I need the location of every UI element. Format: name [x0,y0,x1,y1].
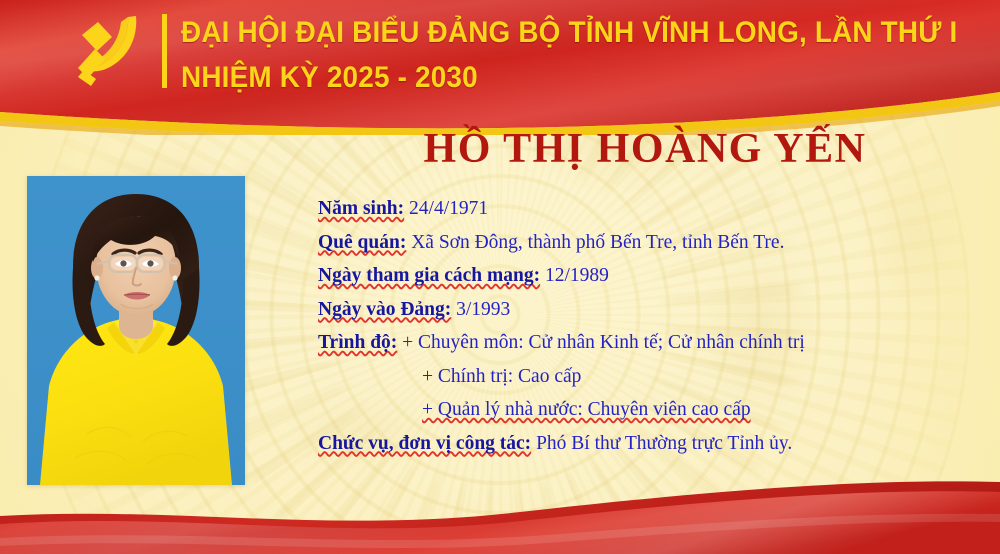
hammer-sickle-icon [62,10,154,94]
person-name: HỒ THỊ HOÀNG YẾN [300,125,990,173]
detail-row-education-2: + Chính trị: Cao cấp [318,360,978,394]
detail-row-birth: Năm sinh: 24/4/1971 [318,192,978,226]
value-birth: 24/4/1971 [409,198,488,219]
label-revolution-date: Ngày tham gia cách mạng: [318,265,540,286]
label-birth: Năm sinh: [318,198,404,219]
value-education-item-1: + Chính trị: Cao cấp [422,366,581,387]
value-position: Phó Bí thư Thường trực Tỉnh ủy. [536,433,792,454]
header-line-2: NHIỆM KỲ 2025 - 2030 [181,55,957,100]
label-position: Chức vụ, đơn vị công tác: [318,433,531,454]
portrait-photo [27,176,245,485]
detail-row-revolution-date: Ngày tham gia cách mạng: 12/1989 [318,259,978,293]
poster-card: ĐẠI HỘI ĐẠI BIỂU ĐẢNG BỘ TỈNH VĨNH LONG,… [0,0,1000,554]
header-divider [162,14,167,88]
label-education: Trình độ: [318,332,397,353]
label-hometown: Quê quán: [318,232,406,253]
detail-row-position: Chức vụ, đơn vị công tác: Phó Bí thư Thư… [318,427,978,461]
label-party-date: Ngày vào Đảng: [318,299,451,320]
detail-row-education: Trình độ: + Chuyên môn: Cử nhân Kinh tế;… [318,326,978,360]
header-title-block: ĐẠI HỘI ĐẠI BIỂU ĐẢNG BỘ TỈNH VĨNH LONG,… [181,8,1000,100]
value-hometown: Xã Sơn Đông, thành phố Bến Tre, tỉnh Bến… [411,232,784,253]
detail-row-hometown: Quê quán: Xã Sơn Đông, thành phố Bến Tre… [318,226,978,260]
header-banner: ĐẠI HỘI ĐẠI BIỂU ĐẢNG BỘ TỈNH VĨNH LONG,… [0,0,1000,135]
value-education-item-2: + Quản lý nhà nước: Chuyên viên cao cấp [422,399,751,420]
detail-row-party-date: Ngày vào Đảng: 3/1993 [318,293,978,327]
value-revolution-date: 12/1989 [545,265,609,286]
value-education-item-0: + Chuyên môn: Cử nhân Kinh tế; Cử nhân c… [402,332,805,353]
footer-wave [0,476,1000,554]
person-details: Năm sinh: 24/4/1971 Quê quán: Xã Sơn Đôn… [318,192,978,460]
value-party-date: 3/1993 [456,299,510,320]
header-line-1: ĐẠI HỘI ĐẠI BIỂU ĐẢNG BỘ TỈNH VĨNH LONG,… [181,10,957,55]
detail-row-education-3: + Quản lý nhà nước: Chuyên viên cao cấp [318,393,978,427]
